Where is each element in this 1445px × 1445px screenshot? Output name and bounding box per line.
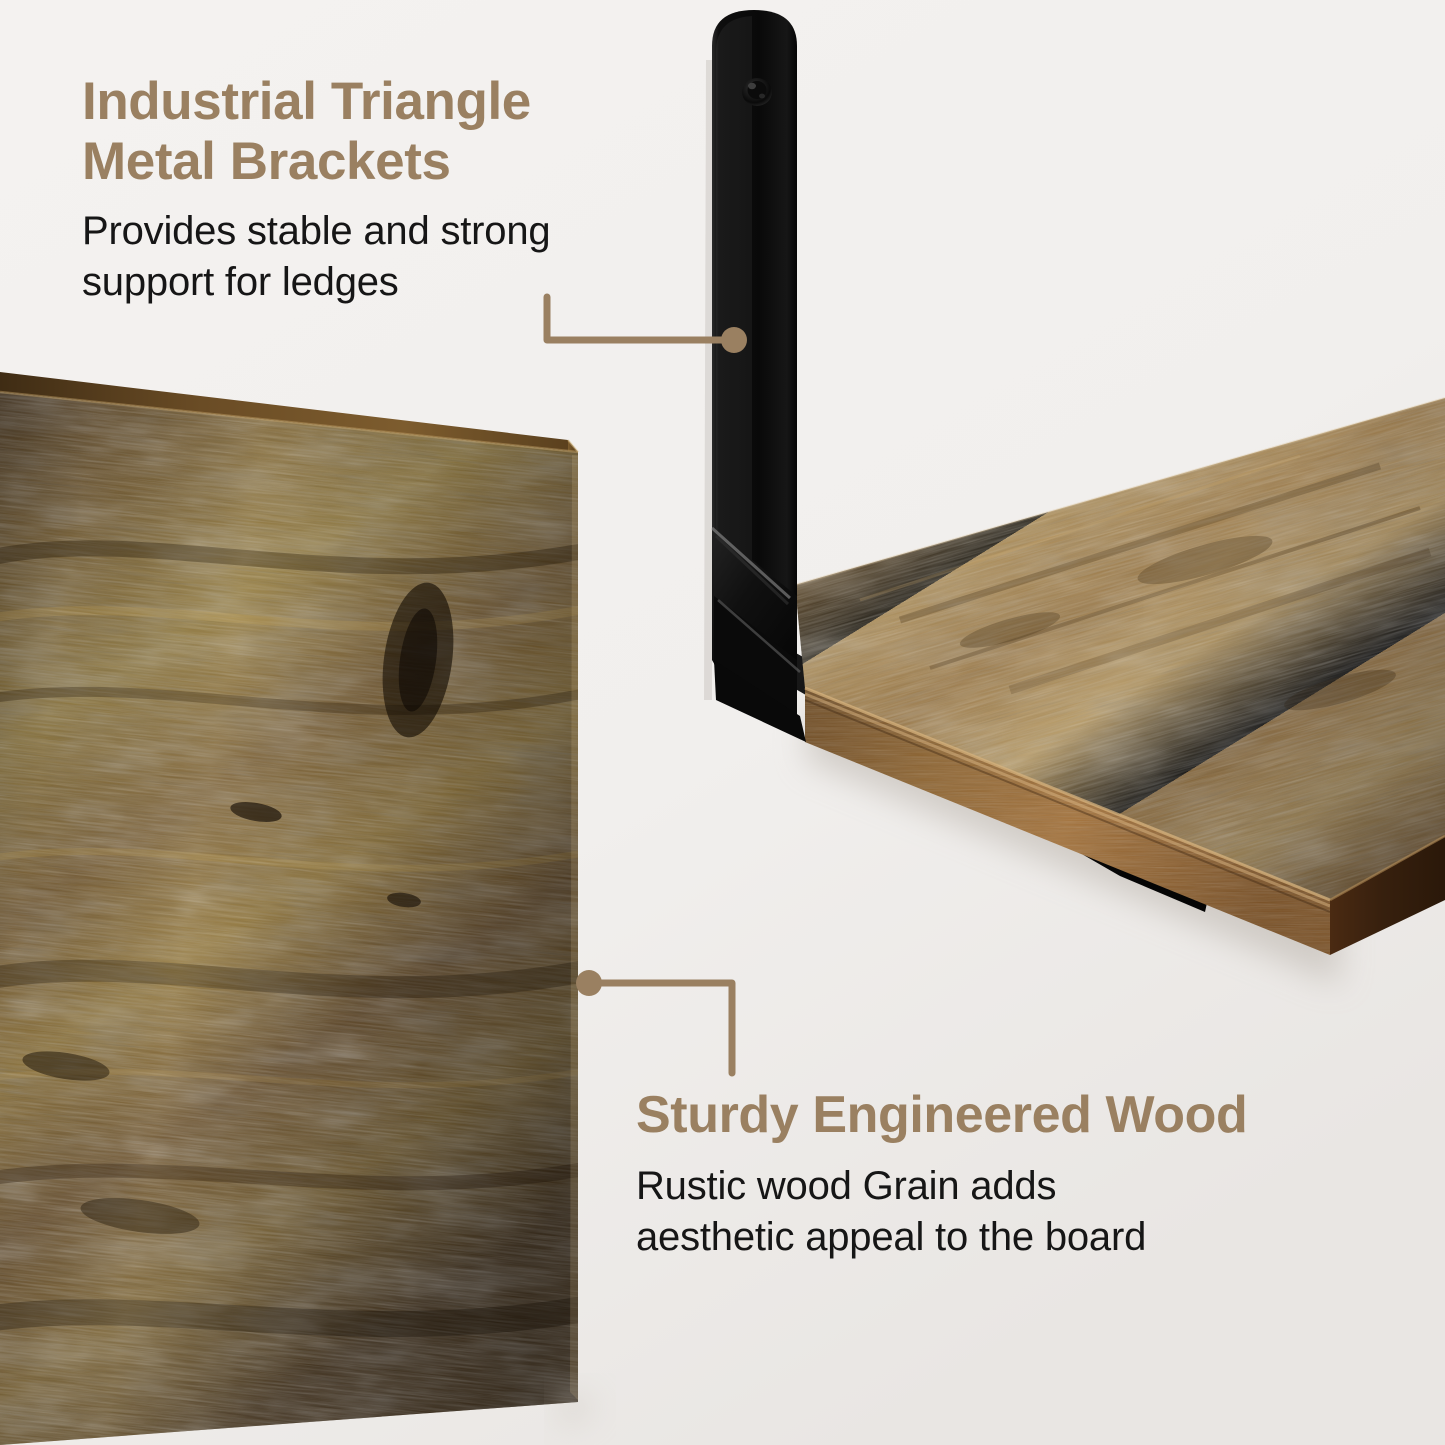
callout-brackets-headline: Industrial Triangle Metal Brackets — [82, 72, 722, 192]
product-feature-graphic: Industrial Triangle Metal Brackets Provi… — [0, 0, 1445, 1445]
callout-wood-headline: Sturdy Engineered Wood — [636, 1086, 1426, 1145]
callout-wood: Sturdy Engineered Wood Rustic wood Grain… — [636, 1086, 1426, 1262]
leader-endpoint-dot-wood — [576, 970, 602, 996]
callout-brackets-subtext: Provides stable and strong support for l… — [82, 206, 722, 308]
leader-endpoint-dot-bracket — [721, 327, 747, 353]
mounting-screw-hole — [742, 78, 772, 106]
callout-wood-subtext: Rustic wood Grain adds aesthetic appeal … — [636, 1161, 1426, 1263]
callout-brackets: Industrial Triangle Metal Brackets Provi… — [82, 72, 722, 307]
